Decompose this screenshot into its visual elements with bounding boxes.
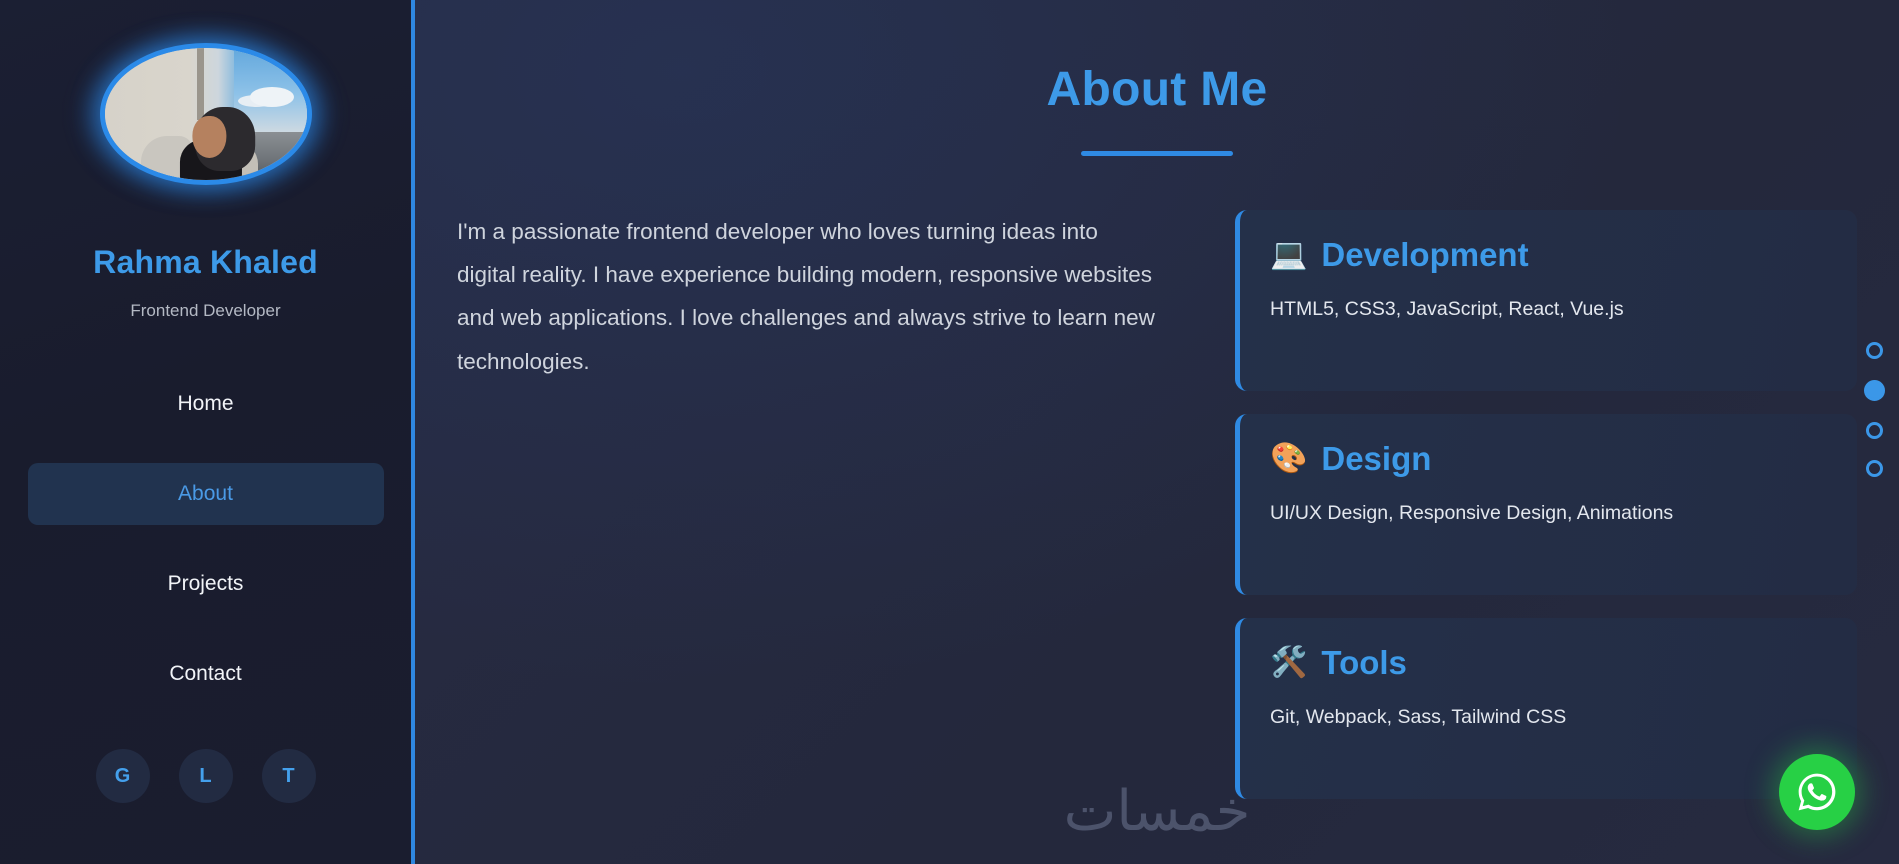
skill-card-development[interactable]: 💻 Development HTML5, CSS3, JavaScript, R… (1235, 210, 1857, 391)
card-description: HTML5, CSS3, JavaScript, React, Vue.js (1270, 298, 1827, 321)
card-title: Tools (1321, 644, 1407, 682)
pagination-dot-4[interactable] (1866, 460, 1883, 477)
carousel-pagination (1866, 342, 1885, 477)
whatsapp-button[interactable] (1779, 754, 1855, 830)
card-title: Design (1321, 440, 1431, 478)
about-content: I'm a passionate frontend developer who … (457, 210, 1857, 799)
pagination-dot-1[interactable] (1866, 342, 1883, 359)
app-root: Rahma Khaled Frontend Developer Home Abo… (0, 0, 1899, 864)
whatsapp-icon (1794, 769, 1840, 815)
pagination-dot-2[interactable] (1864, 380, 1885, 401)
sidebar: Rahma Khaled Frontend Developer Home Abo… (0, 0, 415, 864)
social-github-icon[interactable]: G (96, 749, 150, 803)
card-header: 🛠️ Tools (1270, 644, 1827, 682)
intro-block: I'm a passionate frontend developer who … (457, 210, 1157, 383)
card-header: 💻 Development (1270, 236, 1827, 274)
sidebar-item-contact[interactable]: Contact (28, 643, 384, 705)
profile-name: Rahma Khaled (93, 244, 318, 281)
skill-card-design[interactable]: 🎨 Design UI/UX Design, Responsive Design… (1235, 414, 1857, 595)
page-title: About Me (457, 0, 1857, 117)
sidebar-item-projects[interactable]: Projects (28, 553, 384, 615)
avatar-image (100, 43, 312, 185)
card-title: Development (1321, 236, 1528, 274)
avatar (77, 26, 335, 201)
main-content: About Me I'm a passionate frontend devel… (415, 0, 1899, 864)
palette-icon: 🎨 (1270, 444, 1307, 474)
tools-icon: 🛠️ (1270, 648, 1307, 678)
skill-card-tools[interactable]: 🛠️ Tools Git, Webpack, Sass, Tailwind CS… (1235, 618, 1857, 799)
profile-role: Frontend Developer (130, 301, 280, 321)
card-description: UI/UX Design, Responsive Design, Animati… (1270, 502, 1827, 525)
skill-cards: 💻 Development HTML5, CSS3, JavaScript, R… (1235, 210, 1857, 799)
social-twitter-icon[interactable]: T (262, 749, 316, 803)
card-description: Git, Webpack, Sass, Tailwind CSS (1270, 706, 1827, 729)
social-links: G L T (96, 749, 316, 829)
sidebar-item-about[interactable]: About (28, 463, 384, 525)
card-header: 🎨 Design (1270, 440, 1827, 478)
sidebar-item-home[interactable]: Home (28, 373, 384, 435)
intro-paragraph: I'm a passionate frontend developer who … (457, 210, 1157, 383)
title-underline (1081, 151, 1233, 156)
laptop-icon: 💻 (1270, 240, 1307, 270)
sidebar-nav: Home About Projects Contact (0, 373, 411, 705)
pagination-dot-3[interactable] (1866, 422, 1883, 439)
social-linkedin-icon[interactable]: L (179, 749, 233, 803)
